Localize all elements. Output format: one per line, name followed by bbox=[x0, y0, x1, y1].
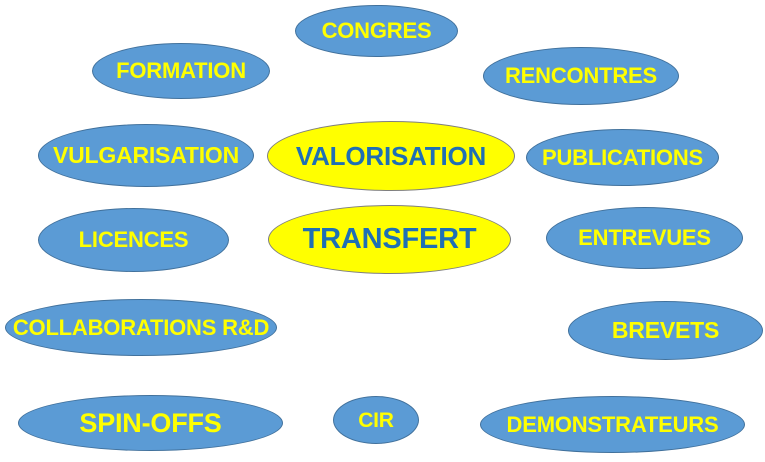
node-publications[interactable]: PUBLICATIONS bbox=[526, 129, 719, 186]
node-spin-offs[interactable]: SPIN-OFFS bbox=[18, 395, 283, 451]
node-licences[interactable]: LICENCES bbox=[38, 208, 229, 272]
node-collaborations-rd[interactable]: COLLABORATIONS R&D bbox=[5, 299, 277, 356]
node-label-collaborations-rd: COLLABORATIONS R&D bbox=[13, 317, 269, 339]
node-label-transfert: TRANSFERT bbox=[303, 225, 477, 254]
node-transfert[interactable]: TRANSFERT bbox=[268, 205, 511, 274]
node-label-licences: LICENCES bbox=[79, 229, 189, 251]
node-cir[interactable]: CIR bbox=[333, 396, 419, 444]
diagram-canvas: CONGRESFORMATIONRENCONTRESVULGARISATIONV… bbox=[0, 0, 765, 462]
node-label-demonstrateurs: DEMONSTRATEURS bbox=[507, 414, 719, 436]
node-label-formation: FORMATION bbox=[116, 60, 246, 82]
node-entrevues[interactable]: ENTREVUES bbox=[546, 207, 743, 269]
node-label-spin-offs: SPIN-OFFS bbox=[79, 410, 221, 437]
node-rencontres[interactable]: RENCONTRES bbox=[483, 47, 679, 105]
node-label-publications: PUBLICATIONS bbox=[542, 147, 703, 169]
node-label-cir: CIR bbox=[358, 410, 394, 431]
node-valorisation[interactable]: VALORISATION bbox=[267, 121, 515, 191]
node-demonstrateurs[interactable]: DEMONSTRATEURS bbox=[480, 396, 745, 453]
node-label-congres: CONGRES bbox=[322, 20, 432, 42]
node-congres[interactable]: CONGRES bbox=[295, 5, 458, 57]
node-brevets[interactable]: BREVETS bbox=[568, 301, 763, 360]
node-label-entrevues: ENTREVUES bbox=[578, 227, 711, 249]
node-label-valorisation: VALORISATION bbox=[296, 143, 486, 169]
node-vulgarisation[interactable]: VULGARISATION bbox=[38, 124, 254, 187]
node-label-rencontres: RENCONTRES bbox=[505, 65, 657, 87]
node-label-brevets: BREVETS bbox=[612, 319, 719, 342]
node-formation[interactable]: FORMATION bbox=[92, 43, 270, 99]
node-label-vulgarisation: VULGARISATION bbox=[53, 144, 239, 167]
